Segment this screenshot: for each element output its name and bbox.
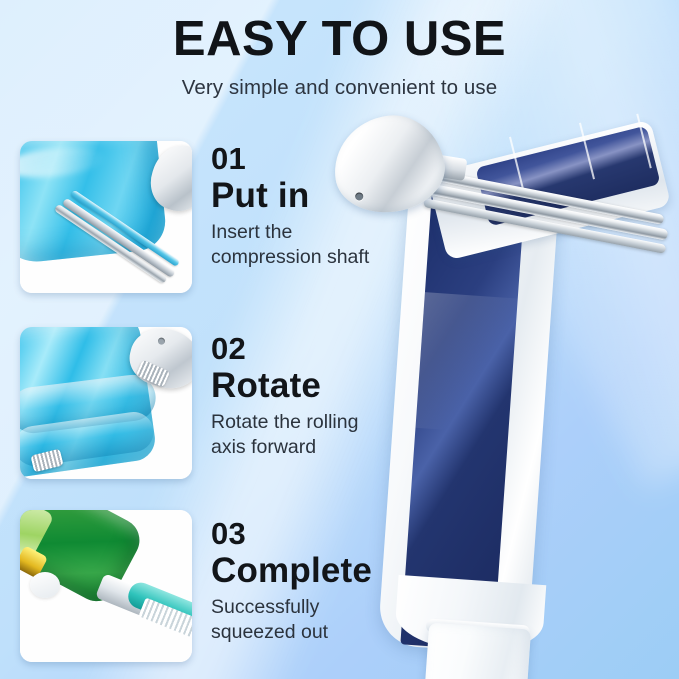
white-flip-top-cap <box>423 623 531 679</box>
paste-blob <box>30 572 60 598</box>
header: EASY TO USE Very simple and convenient t… <box>0 14 679 100</box>
step-thumbnail-card-3 <box>20 510 192 662</box>
step-thumbnail-card-1 <box>20 141 192 293</box>
page-subtitle: Very simple and convenient to use <box>0 76 679 100</box>
green-tube-toothbrush-photo <box>20 510 192 662</box>
page-title: EASY TO USE <box>0 14 679 65</box>
step-thumbnail-card-2 <box>20 327 192 479</box>
blue-tube-with-shaft-photo <box>20 141 192 293</box>
rolled-blue-tube-photo <box>20 327 192 479</box>
product-infographic: EASY TO USE Very simple and convenient t… <box>0 0 679 679</box>
hero-product-image <box>330 110 679 679</box>
